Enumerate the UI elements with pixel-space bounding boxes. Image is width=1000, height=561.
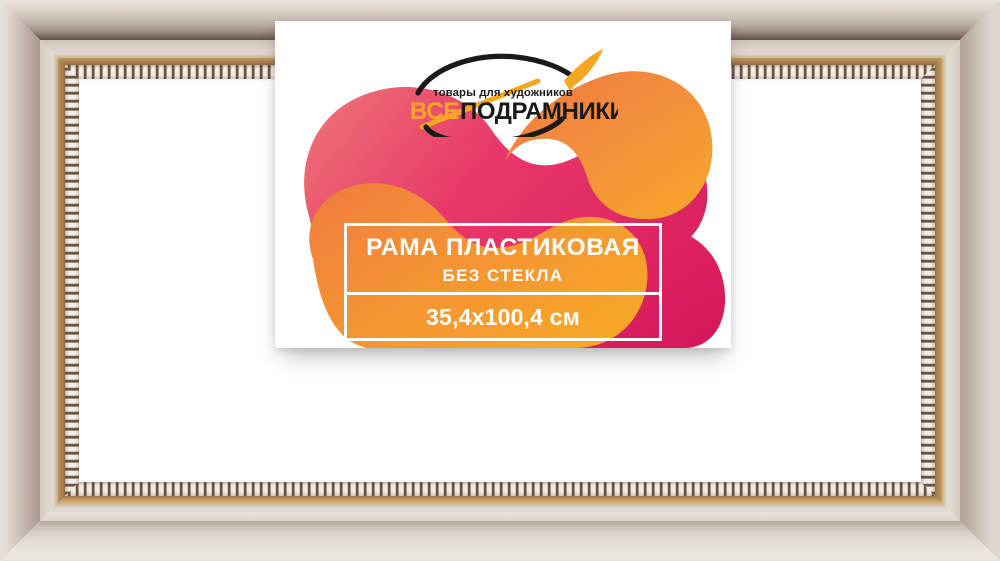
frame-dentil-strip-left: [65, 65, 79, 496]
frame-moulding-bottom: [0, 521, 1000, 561]
frame-step-left: [40, 40, 58, 521]
frame-step-bottom: [40, 503, 960, 521]
frame-step-right: [942, 40, 960, 521]
frame-dentil-strip-bottom: [65, 482, 935, 496]
product-size: 35,4x100,4 см: [347, 304, 659, 331]
brand-logo-mark: товары для художников ВСЕ ПОДРАМНИКИ: [388, 41, 618, 137]
frame-moulding-left: [0, 0, 40, 561]
product-title-box: РАМА ПЛАСТИКОВАЯ БЕЗ СТЕКЛА: [344, 223, 662, 295]
product-size-box: 35,4x100,4 см: [344, 295, 662, 341]
frame-moulding-right: [960, 0, 1000, 561]
frame-gold-fillet-bottom: [58, 496, 942, 503]
brand-logo: товары для художников ВСЕ ПОДРАМНИКИ: [275, 41, 731, 137]
frame-dentil-strip-right: [921, 65, 935, 496]
product-title: РАМА ПЛАСТИКОВАЯ: [347, 234, 659, 262]
brand-name-main: ПОДРАМНИКИ: [460, 98, 618, 125]
product-subtitle: БЕЗ СТЕКЛА: [347, 266, 659, 286]
brand-name-accent: ВСЕ: [410, 98, 459, 125]
product-label-card: товары для художников ВСЕ ПОДРАМНИКИ РАМ…: [275, 21, 731, 348]
product-photo: товары для художников ВСЕ ПОДРАМНИКИ РАМ…: [0, 0, 1000, 561]
frame-gold-fillet-left: [58, 58, 65, 503]
frame-gold-fillet-right: [935, 58, 942, 503]
